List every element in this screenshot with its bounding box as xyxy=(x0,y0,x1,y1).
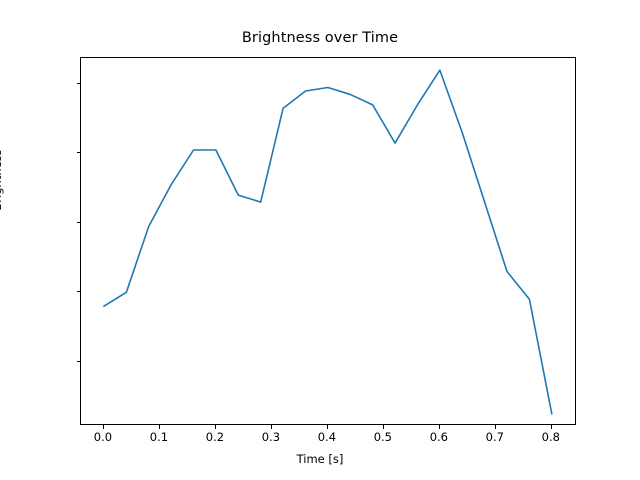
x-tick-label: 0.0 xyxy=(94,430,112,444)
x-tick-mark xyxy=(495,425,496,429)
x-tick-label: 0.1 xyxy=(150,430,168,444)
y-tick-mark xyxy=(77,83,81,84)
y-tick-mark xyxy=(77,222,81,223)
y-tick-mark xyxy=(77,152,81,153)
y-tick-mark xyxy=(77,361,81,362)
x-tick-mark xyxy=(439,425,440,429)
y-axis-label: Brightness xyxy=(0,149,4,210)
figure-canvas: Brightness over Time Brightness Time [s]… xyxy=(0,0,640,480)
x-tick-label: 0.6 xyxy=(430,430,448,444)
x-tick-mark xyxy=(271,425,272,429)
chart-title: Brightness over Time xyxy=(0,30,640,46)
x-tick-label: 0.7 xyxy=(486,430,504,444)
brightness-line xyxy=(104,70,552,414)
x-tick-label: 0.2 xyxy=(206,430,224,444)
y-tick-mark xyxy=(77,291,81,292)
x-tick-label: 0.4 xyxy=(318,430,336,444)
x-tick-mark xyxy=(159,425,160,429)
x-axis-label: Time [s] xyxy=(0,452,640,466)
x-tick-mark xyxy=(327,425,328,429)
x-tick-label: 0.5 xyxy=(374,430,392,444)
plot-area xyxy=(80,57,576,425)
x-tick-label: 0.8 xyxy=(542,430,560,444)
x-tick-mark xyxy=(103,425,104,429)
x-tick-mark xyxy=(215,425,216,429)
x-tick-mark xyxy=(551,425,552,429)
x-tick-label: 0.3 xyxy=(262,430,280,444)
data-line-svg xyxy=(81,58,577,426)
x-tick-mark xyxy=(383,425,384,429)
